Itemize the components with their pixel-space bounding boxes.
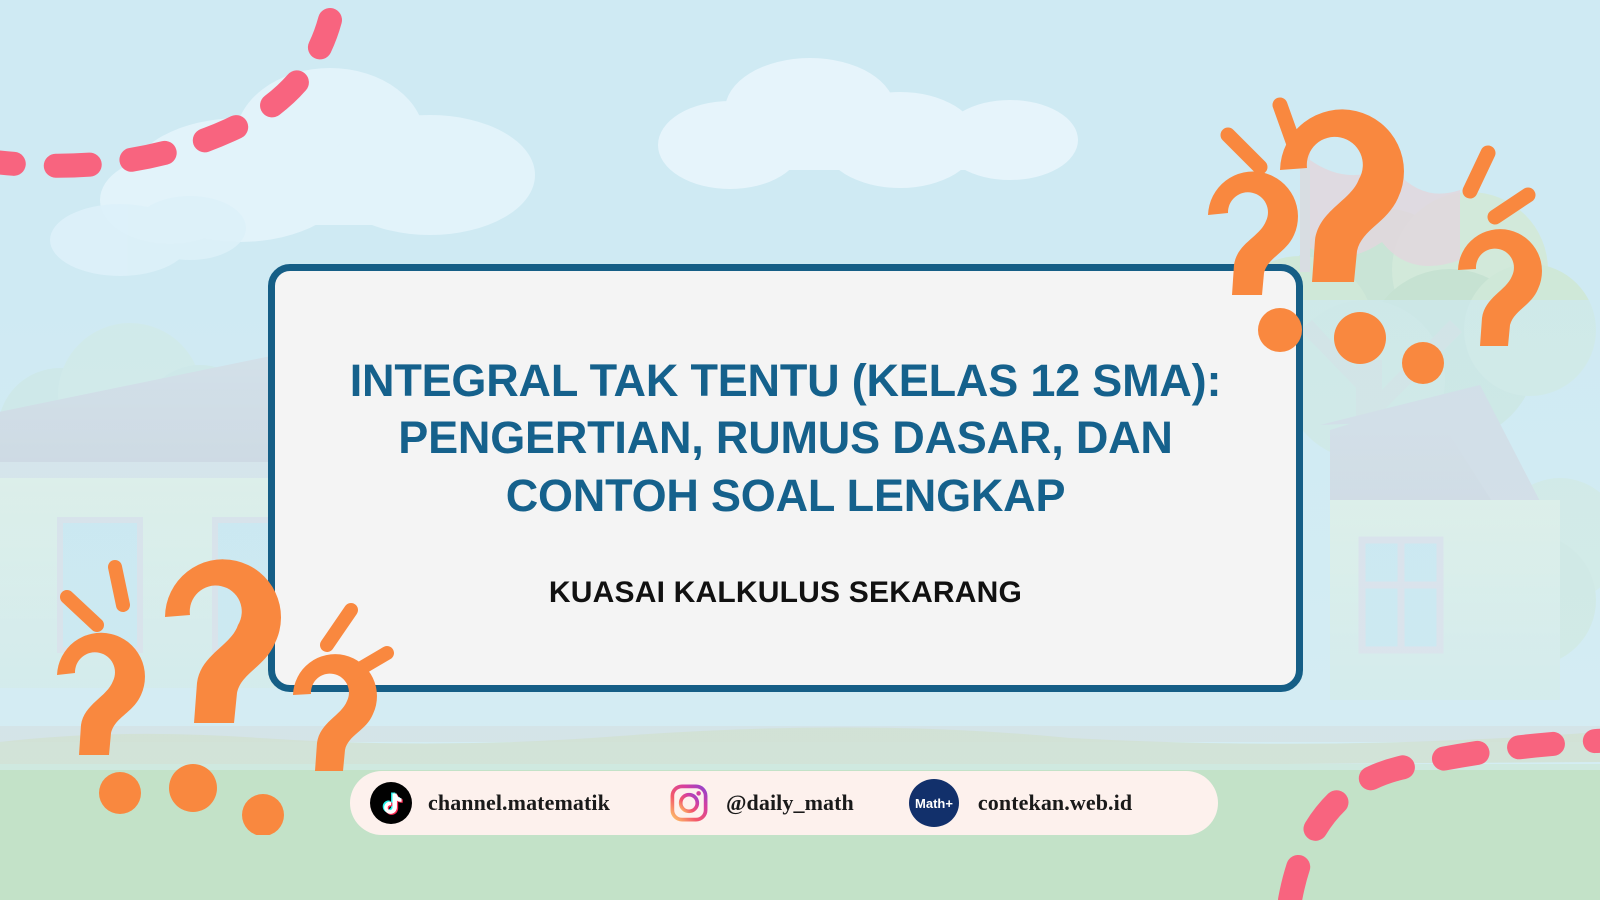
page-title: INTEGRAL TAK TENTU (KELAS 12 SMA): PENGE… — [316, 346, 1256, 525]
math-logo-text: Math+ — [915, 796, 953, 811]
footer-item-instagram[interactable]: @daily_math — [668, 782, 854, 824]
footer-item-website[interactable]: Math+ contekan.web.id — [906, 779, 1132, 827]
tiktok-icon — [370, 782, 412, 824]
main-content-card: INTEGRAL TAK TENTU (KELAS 12 SMA): PENGE… — [268, 264, 1303, 692]
poster-canvas: INTEGRAL TAK TENTU (KELAS 12 SMA): PENGE… — [0, 0, 1600, 900]
footer-label-instagram: @daily_math — [726, 790, 854, 816]
math-plus-logo-icon: Math+ — [906, 779, 962, 827]
instagram-icon — [668, 782, 710, 824]
footer-item-tiktok[interactable]: channel.matematik — [370, 782, 610, 824]
footer-label-website: contekan.web.id — [978, 790, 1132, 816]
social-footer-bar: channel.matematik @daily_math — [350, 771, 1218, 835]
footer-label-tiktok: channel.matematik — [428, 790, 610, 816]
flag-pole — [1300, 152, 1310, 272]
page-subtitle: KUASAI KALKULUS SEKARANG — [549, 576, 1022, 610]
